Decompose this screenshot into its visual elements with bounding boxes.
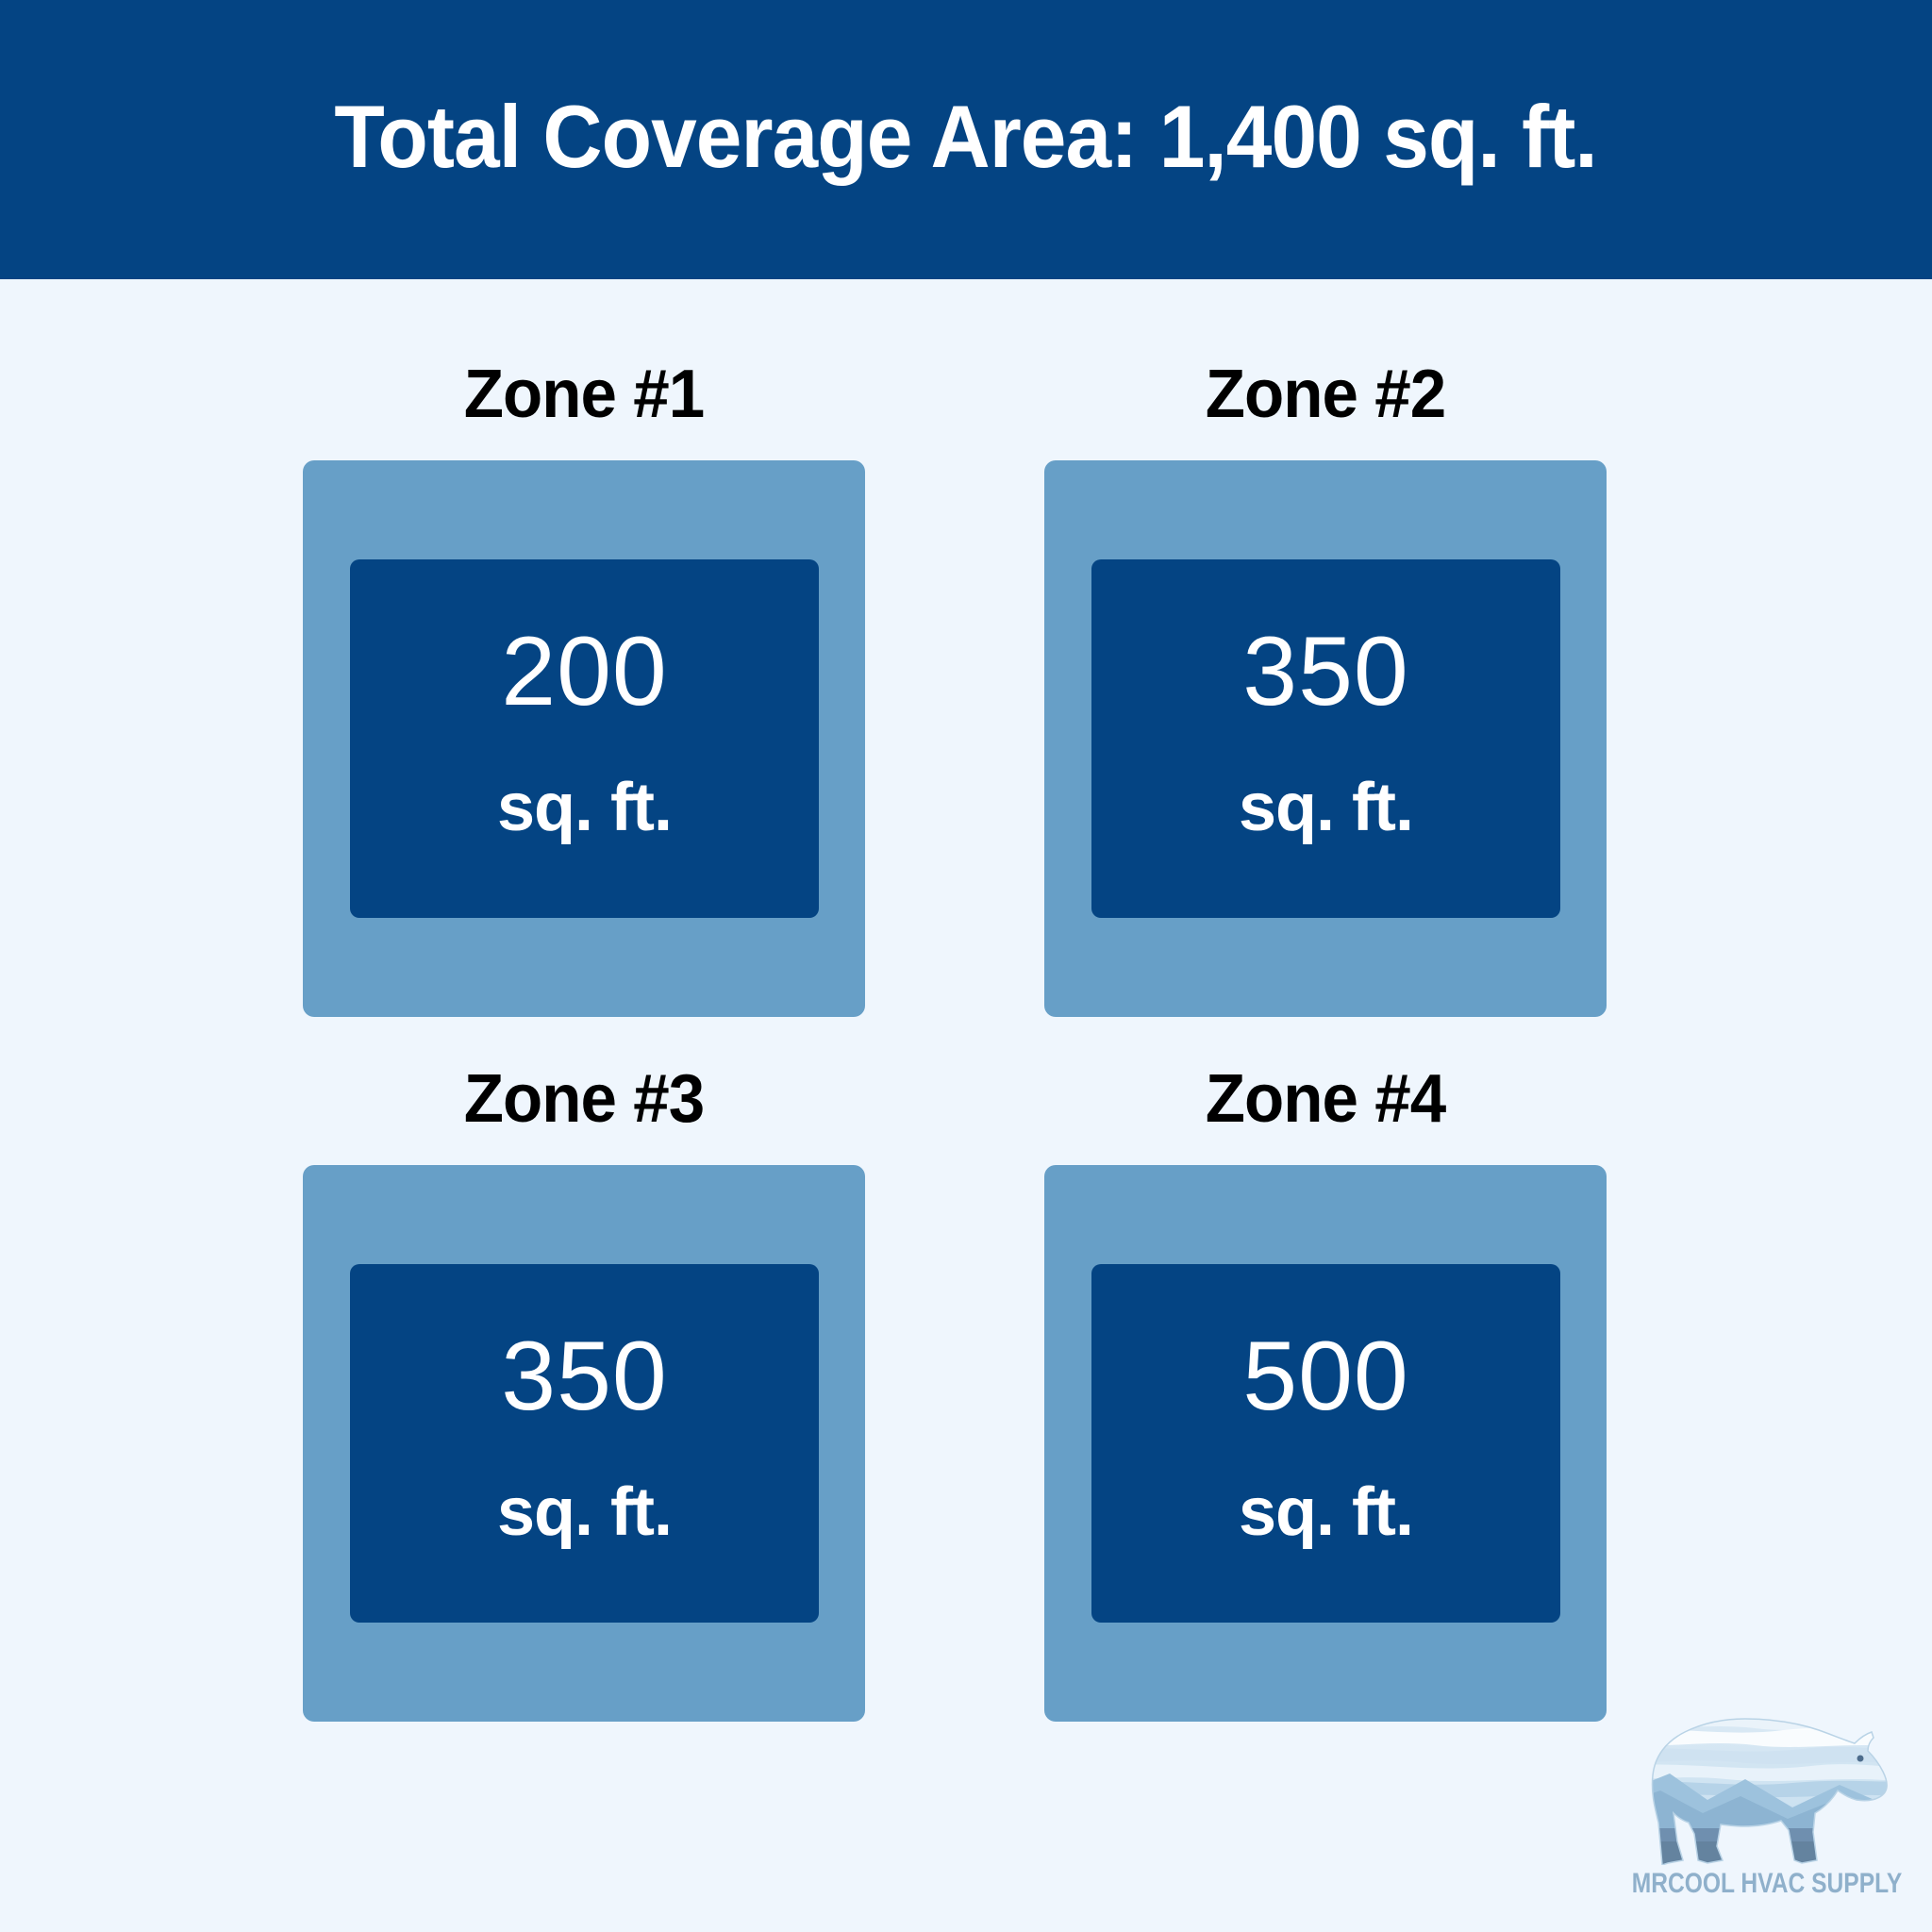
zone-value-2: 350 — [1242, 623, 1409, 721]
zone-card-outer-4: 500 sq. ft. — [1044, 1165, 1607, 1722]
zone-value-4: 500 — [1242, 1327, 1409, 1425]
zone-label-3: Zone #3 — [314, 1065, 854, 1156]
polar-bear-icon — [1613, 1709, 1896, 1865]
zone-card-inner-1: 200 sq. ft. — [350, 559, 819, 918]
page-title: Total Coverage Area: 1,400 sq. ft. — [335, 92, 1597, 187]
zone-card-inner-2: 350 sq. ft. — [1091, 559, 1560, 918]
logo-wordmark: MRCOOL HVAC SUPPLY — [1632, 1868, 1888, 1900]
zone-card-outer-3: 350 sq. ft. — [303, 1165, 865, 1722]
zone-grid: Zone #1 200 sq. ft. Zone #2 350 sq. ft. … — [0, 279, 1932, 1932]
zone-value-3: 350 — [501, 1327, 668, 1425]
zone-card-3[interactable]: Zone #3 350 sq. ft. — [303, 1065, 865, 1722]
zone-unit-3: sq. ft. — [497, 1478, 672, 1546]
header-banner: Total Coverage Area: 1,400 sq. ft. — [0, 0, 1932, 279]
zone-label-1: Zone #1 — [314, 360, 854, 451]
brand-logo: MRCOOL HVAC SUPPLY — [1604, 1709, 1915, 1922]
zone-label-4: Zone #4 — [1056, 1065, 1595, 1156]
zone-unit-1: sq. ft. — [497, 774, 672, 841]
zone-card-2[interactable]: Zone #2 350 sq. ft. — [1044, 360, 1607, 1017]
zone-card-4[interactable]: Zone #4 500 sq. ft. — [1044, 1065, 1607, 1722]
zone-card-inner-4: 500 sq. ft. — [1091, 1264, 1560, 1623]
zone-card-outer-1: 200 sq. ft. — [303, 460, 865, 1017]
zone-card-outer-2: 350 sq. ft. — [1044, 460, 1607, 1017]
zone-unit-2: sq. ft. — [1239, 774, 1413, 841]
zone-unit-4: sq. ft. — [1239, 1478, 1413, 1546]
zone-value-1: 200 — [501, 623, 668, 721]
zone-label-2: Zone #2 — [1056, 360, 1595, 451]
zone-card-1[interactable]: Zone #1 200 sq. ft. — [303, 360, 865, 1017]
zone-card-inner-3: 350 sq. ft. — [350, 1264, 819, 1623]
